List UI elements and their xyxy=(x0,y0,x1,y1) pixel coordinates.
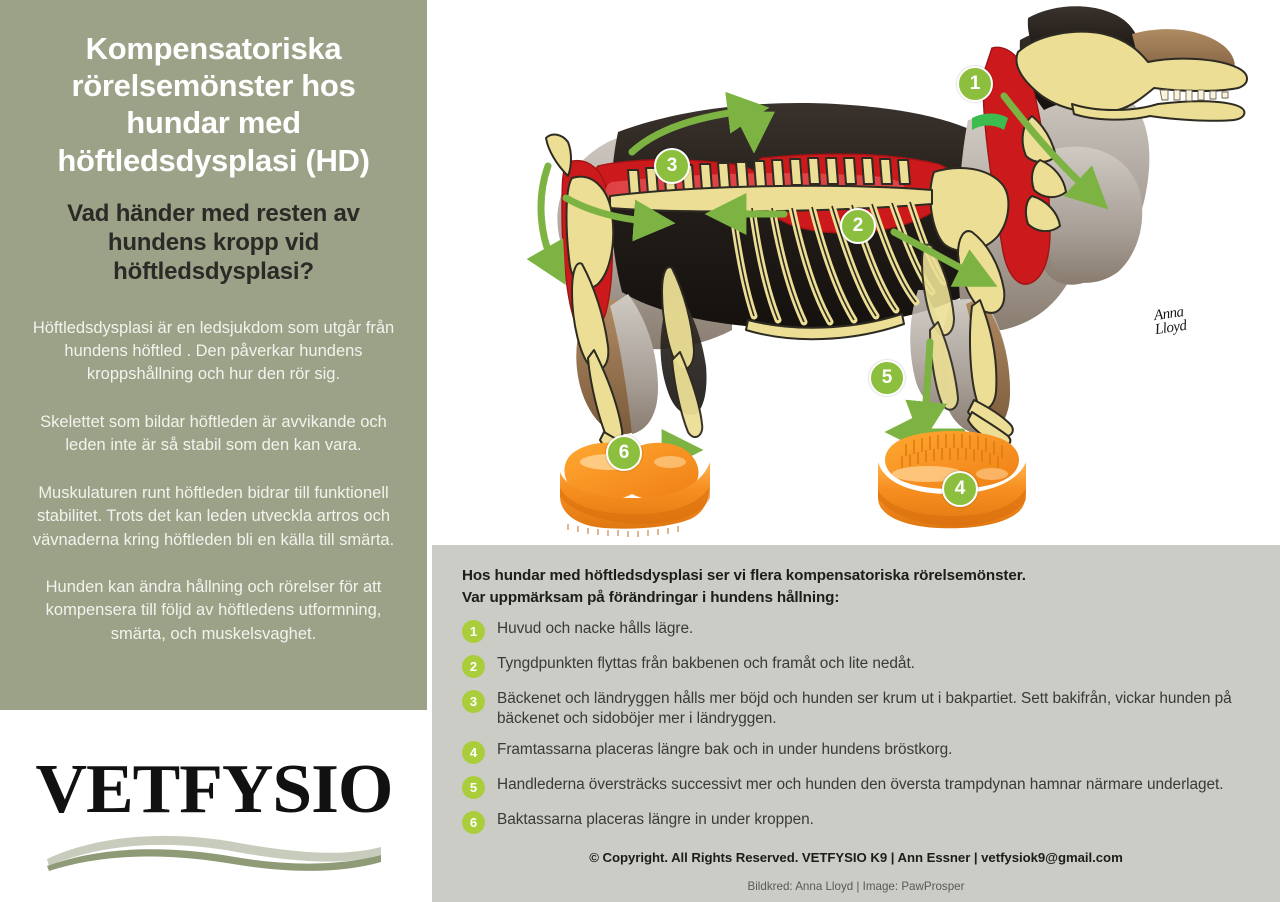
sidebar-paragraph-1: Höftledsdysplasi är en ledsjukdom som ut… xyxy=(30,317,397,387)
list-item: 3 Bäckenet och ländryggen hålls mer böjd… xyxy=(462,689,1250,728)
list-item-text: Huvud och nacke hålls lägre. xyxy=(497,619,693,639)
list-item: 2 Tyngdpunkten flyttas från bakbenen och… xyxy=(462,654,1250,678)
sidebar-paragraph-4: Hunden kan ändra hållning och rörelser f… xyxy=(30,576,397,646)
logo-wave-icon xyxy=(43,825,385,871)
copyright-notice: © Copyright. All Rights Reserved. VETFYS… xyxy=(462,850,1250,865)
image-marker-5[interactable]: 5 xyxy=(869,360,905,396)
image-marker-3[interactable]: 3 xyxy=(654,148,690,184)
dog-anatomy-illustration: Anna Lloyd 1 2 3 4 5 6 xyxy=(432,0,1280,545)
list-badge-5: 5 xyxy=(462,776,485,799)
list-badge-1: 1 xyxy=(462,620,485,643)
image-credit: Bildkred: Anna Lloyd | Image: PawProsper xyxy=(462,880,1250,893)
list-item-text: Tyngdpunkten flyttas från bakbenen och f… xyxy=(497,654,915,674)
list-item: 5 Handlederna översträcks successivt mer… xyxy=(462,775,1250,799)
list-badge-2: 2 xyxy=(462,655,485,678)
list-item-text: Bäckenet och ländryggen hålls mer böjd o… xyxy=(497,689,1250,728)
sidebar: Kompensatoriska rörelsemönster hos hunda… xyxy=(0,0,427,710)
list-badge-4: 4 xyxy=(462,741,485,764)
image-marker-6[interactable]: 6 xyxy=(606,435,642,471)
list-item: 6 Baktassarna placeras längre in under k… xyxy=(462,810,1250,834)
sidebar-paragraph-2: Skelettet som bildar höftleden är avvika… xyxy=(30,411,397,458)
list-item-text: Framtassarna placeras längre bak och in … xyxy=(497,740,952,760)
list-item-text: Baktassarna placeras längre in under kro… xyxy=(497,810,814,830)
page-subtitle: Vad händer med resten av hundens kropp v… xyxy=(28,199,399,287)
sidebar-paragraph-3: Muskulaturen runt höftleden bidrar till … xyxy=(30,482,397,552)
explanation-panel: Hos hundar med höftledsdysplasi ser vi f… xyxy=(432,545,1280,902)
image-marker-4[interactable]: 4 xyxy=(942,471,978,507)
image-marker-1[interactable]: 1 xyxy=(957,66,993,102)
list-item-text: Handlederna översträcks successivt mer o… xyxy=(497,775,1224,795)
panel-heading-line-1: Hos hundar med höftledsdysplasi ser vi f… xyxy=(462,565,1250,587)
panel-heading: Hos hundar med höftledsdysplasi ser vi f… xyxy=(462,565,1250,609)
image-marker-2[interactable]: 2 xyxy=(840,208,876,244)
compensation-list: 1 Huvud och nacke hålls lägre. 2 Tyngdpu… xyxy=(462,619,1250,833)
panel-heading-line-2: Var uppmärksam på förändringar i hundens… xyxy=(462,587,1250,609)
brand-logo: VETFYSIO xyxy=(0,710,427,902)
arrow-lumbar-down xyxy=(541,166,556,268)
infographic-page: Kompensatoriska rörelsemönster hos hunda… xyxy=(0,0,1280,902)
list-item: 1 Huvud och nacke hålls lägre. xyxy=(462,619,1250,643)
page-title: Kompensatoriska rörelsemönster hos hunda… xyxy=(22,30,405,179)
artist-signature: Anna Lloyd xyxy=(1152,306,1187,338)
dog-skeleton-graphic xyxy=(432,0,1280,545)
list-badge-3: 3 xyxy=(462,690,485,713)
list-item: 4 Framtassarna placeras längre bak och i… xyxy=(462,740,1250,764)
list-badge-6: 6 xyxy=(462,811,485,834)
logo-wordmark: VETFYSIO xyxy=(35,756,392,823)
